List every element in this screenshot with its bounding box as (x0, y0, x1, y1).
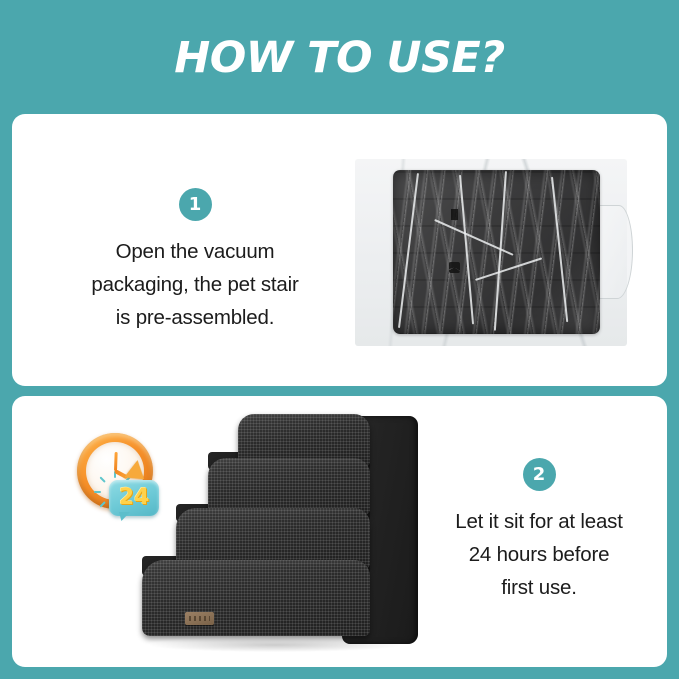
clock-tick (99, 476, 105, 482)
step-1-line-1: Open the vacuum (40, 235, 350, 268)
step-1-description: Open the vacuum packaging, the pet stair… (40, 235, 350, 334)
stairs-tread-3 (176, 508, 370, 568)
pet-stairs-image (142, 408, 418, 656)
step-card-1: 1 Open the vacuum packaging, the pet sta… (12, 114, 667, 386)
how-to-use-infographic: HOW TO USE? 1 Open the vacuum packaging,… (0, 0, 679, 679)
step-2-text-block: 2 Let it sit for at least 24 hours befor… (404, 458, 667, 604)
vacuum-package-image (355, 159, 627, 346)
stairs-tread-2 (208, 458, 370, 514)
clock-tick (94, 491, 101, 493)
page-title: HOW TO USE? (0, 32, 679, 84)
step-1-badge: 1 (179, 188, 212, 221)
stairs-body (142, 408, 418, 656)
brand-logo-tag (185, 612, 214, 625)
step-2-description: Let it sit for at least 24 hours before … (404, 505, 667, 604)
step-1-text-block: 1 Open the vacuum packaging, the pet sta… (40, 188, 350, 334)
step-1-line-3: is pre-assembled. (40, 301, 350, 334)
step-2-line-3: first use. (404, 571, 667, 604)
drop-shadow (150, 638, 400, 652)
step-1-line-2: packaging, the pet stair (40, 268, 350, 301)
clock-minute-hand (114, 452, 118, 471)
step-card-2: 24 2 Let it sit for at least 24 hours be… (12, 396, 667, 667)
step-2-line-1: Let it sit for at least (404, 505, 667, 538)
step-2-badge: 2 (523, 458, 556, 491)
step-2-line-2: 24 hours before (404, 538, 667, 571)
stairs-tread-4 (142, 560, 370, 636)
